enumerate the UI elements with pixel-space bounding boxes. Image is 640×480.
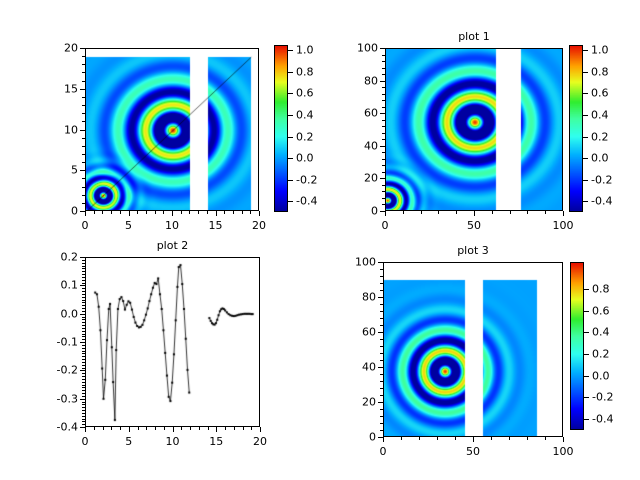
axis-tick: [382, 94, 385, 95]
axis-tick: [82, 64, 85, 65]
axis-tick: [583, 72, 588, 73]
plot-3-colorbar-gradient: [571, 263, 583, 429]
axis-tick: [146, 427, 147, 430]
axis-tick: [137, 211, 138, 214]
colorbar-tick-label: -0.2: [592, 391, 613, 404]
plot-0-ytick-label: 5: [38, 164, 78, 177]
colorbar-tick-label: 0.6: [592, 304, 610, 317]
axis-tick: [82, 410, 85, 411]
plot-0-ytick-label: 20: [38, 42, 78, 55]
axis-tick: [260, 427, 261, 432]
colorbar-tick-label: 0.0: [592, 369, 610, 382]
axis-tick: [103, 427, 104, 430]
axis-tick: [82, 162, 85, 163]
axis-tick: [82, 187, 85, 188]
plot-1-ytick-label: 100: [338, 42, 378, 55]
axis-tick: [382, 165, 385, 166]
axis-tick: [380, 381, 383, 382]
axis-tick: [380, 395, 383, 396]
plot-3-xtick-label: 0: [380, 445, 387, 458]
axis-tick: [382, 191, 385, 192]
axis-tick: [82, 319, 85, 320]
axis-tick: [80, 48, 85, 49]
axis-tick: [382, 120, 385, 121]
axis-tick: [82, 387, 85, 388]
axis-tick: [80, 314, 85, 315]
axis-tick: [380, 290, 383, 291]
axis-tick: [82, 288, 85, 289]
plot-0-ytick-label: 10: [38, 123, 78, 136]
axis-tick: [82, 294, 85, 295]
axis-tick: [155, 211, 156, 214]
axis-tick: [82, 396, 85, 397]
axis-tick: [584, 419, 589, 420]
axis-tick: [82, 268, 85, 269]
axis-tick: [250, 211, 251, 214]
plot-0-axes[interactable]: [85, 48, 259, 211]
axis-tick: [584, 332, 589, 333]
colorbar-tick-label: -0.2: [591, 173, 612, 186]
axis-tick: [80, 130, 85, 131]
axis-tick: [82, 121, 85, 122]
plot-1-title: plot 1: [385, 30, 563, 43]
axis-tick: [111, 211, 112, 214]
colorbar-tick-label: 0.2: [296, 130, 314, 143]
axis-tick: [382, 74, 385, 75]
plot-3-xtick-label: 50: [466, 445, 480, 458]
axis-tick: [380, 339, 383, 340]
axis-tick: [82, 283, 85, 284]
axis-tick: [491, 437, 492, 440]
axis-tick: [129, 427, 130, 432]
axis-tick: [455, 437, 456, 440]
axis-tick: [82, 291, 85, 292]
plot-2-xtick-label: 15: [209, 435, 223, 448]
plot-2-line-series: [86, 258, 260, 427]
colorbar-tick-label: -0.4: [296, 195, 317, 208]
plot-1-xtick-label: 100: [553, 219, 574, 232]
axis-tick: [288, 180, 293, 181]
axis-tick: [173, 427, 174, 432]
axis-tick: [82, 308, 85, 309]
axis-tick: [251, 427, 252, 430]
axis-tick: [138, 427, 139, 430]
axis-tick: [380, 374, 383, 375]
axis-tick: [563, 437, 564, 442]
axis-tick: [380, 211, 385, 212]
colorbar-tick-label: 0.8: [592, 283, 610, 296]
colorbar-tick-label: -0.4: [591, 195, 612, 208]
plot-2-xtick-label: 0: [82, 435, 89, 448]
plot-3-colorbar: [570, 262, 584, 430]
axis-tick: [403, 211, 404, 214]
axis-tick: [82, 331, 85, 332]
plot-0-xtick-label: 20: [252, 219, 266, 232]
axis-tick: [82, 365, 85, 366]
axis-tick: [82, 203, 85, 204]
axis-tick: [378, 297, 383, 298]
axis-tick: [382, 100, 385, 101]
axis-tick: [94, 211, 95, 214]
colorbar-tick-label: 0.4: [592, 326, 610, 339]
plot-3-axes[interactable]: [383, 262, 563, 437]
plot-3-xtick-label: 100: [553, 445, 574, 458]
axis-tick: [456, 211, 457, 214]
axis-tick: [382, 87, 385, 88]
axis-tick: [82, 348, 85, 349]
axis-tick: [82, 351, 85, 352]
axis-tick: [380, 360, 383, 361]
axis-tick: [164, 427, 165, 430]
axis-tick: [421, 211, 422, 214]
axis-tick: [82, 404, 85, 405]
axis-tick: [82, 390, 85, 391]
axis-tick: [82, 356, 85, 357]
axis-tick: [80, 370, 85, 371]
axis-tick: [82, 266, 85, 267]
plot-3-title: plot 3: [383, 244, 563, 257]
axis-tick: [380, 388, 383, 389]
axis-tick: [129, 211, 130, 216]
axis-tick: [82, 339, 85, 340]
axis-tick: [382, 139, 385, 140]
axis-tick: [82, 345, 85, 346]
axis-tick: [80, 257, 85, 258]
axis-tick: [120, 427, 121, 430]
axis-tick: [82, 138, 85, 139]
axis-tick: [380, 276, 383, 277]
axis-tick: [583, 201, 588, 202]
plot-1-ytick-label: 40: [338, 139, 378, 152]
axis-tick: [82, 271, 85, 272]
axis-tick: [82, 373, 85, 374]
axis-tick: [163, 211, 164, 214]
axis-tick: [82, 274, 85, 275]
plot-0-xtick-label: 10: [165, 219, 179, 232]
colorbar-tick-label: 0.8: [591, 65, 609, 78]
axis-tick: [378, 262, 383, 263]
axis-tick: [82, 368, 85, 369]
colorbar-tick-label: -0.4: [592, 413, 613, 426]
plot-1-xtick-label: 50: [467, 219, 481, 232]
axis-tick: [382, 126, 385, 127]
plot-2-ytick-label: -0.4: [38, 421, 78, 434]
axis-tick: [380, 318, 383, 319]
axis-tick: [474, 211, 475, 216]
axis-tick: [380, 269, 383, 270]
axis-tick: [510, 211, 511, 214]
axis-tick: [82, 56, 85, 57]
plot-2-title: plot 2: [85, 239, 260, 252]
axis-tick: [190, 427, 191, 430]
axis-tick: [224, 211, 225, 214]
axis-tick: [82, 334, 85, 335]
axis-tick: [82, 424, 85, 425]
axis-tick: [380, 409, 383, 410]
axis-tick: [563, 211, 564, 216]
axis-tick: [437, 437, 438, 440]
axis-tick: [438, 211, 439, 214]
plot-0-colorbar-gradient: [275, 46, 287, 211]
axis-tick: [82, 322, 85, 323]
axis-tick: [199, 427, 200, 430]
axis-tick: [80, 89, 85, 90]
axis-tick: [378, 402, 383, 403]
axis-tick: [111, 427, 112, 430]
axis-tick: [242, 211, 243, 214]
plot-1-heatmap: [386, 49, 563, 211]
axis-tick: [382, 61, 385, 62]
axis-tick: [82, 260, 85, 261]
plot-1-xtick-label: 0: [382, 219, 389, 232]
axis-tick: [545, 211, 546, 214]
axis-tick: [82, 297, 85, 298]
axis-tick: [380, 423, 383, 424]
plot-3-ytick-label: 40: [336, 361, 376, 374]
plot-2-xtick-label: 20: [253, 435, 267, 448]
colorbar-tick-label: 1.0: [591, 44, 609, 57]
axis-tick: [492, 211, 493, 214]
axis-tick: [94, 427, 95, 430]
axis-tick: [82, 379, 85, 380]
axis-tick: [288, 137, 293, 138]
plot-2-ytick-label: 0.2: [38, 251, 78, 264]
axis-tick: [584, 397, 589, 398]
axis-tick: [80, 342, 85, 343]
axis-tick: [82, 113, 85, 114]
axis-tick: [82, 419, 85, 420]
axis-tick: [243, 427, 244, 430]
axis-tick: [80, 170, 85, 171]
axis-tick: [583, 158, 588, 159]
axis-tick: [82, 97, 85, 98]
axis-tick: [82, 302, 85, 303]
axis-tick: [380, 325, 383, 326]
plot-3-ytick-label: 0: [336, 431, 376, 444]
axis-tick: [85, 211, 86, 216]
axis-tick: [509, 437, 510, 440]
colorbar-tick-label: 0.2: [592, 348, 610, 361]
axis-tick: [82, 402, 85, 403]
plot-1-axes[interactable]: [385, 48, 563, 211]
plot-0-xtick-label: 5: [125, 219, 132, 232]
axis-tick: [380, 346, 383, 347]
axis-tick: [380, 353, 383, 354]
axis-tick: [82, 416, 85, 417]
plot-2-ytick-label: 0.1: [38, 279, 78, 292]
axis-tick: [82, 317, 85, 318]
axis-tick: [583, 93, 588, 94]
axis-tick: [584, 354, 589, 355]
axis-tick: [288, 93, 293, 94]
colorbar-tick-label: 0.0: [296, 152, 314, 165]
plot-2-ytick-label: -0.3: [38, 392, 78, 405]
colorbar-tick-label: 0.8: [296, 65, 314, 78]
axis-tick: [82, 72, 85, 73]
axis-tick: [85, 427, 86, 432]
axis-tick: [419, 437, 420, 440]
axis-tick: [233, 211, 234, 214]
axis-tick: [82, 336, 85, 337]
axis-tick: [82, 362, 85, 363]
axis-tick: [82, 263, 85, 264]
axis-tick: [80, 427, 85, 428]
plot-2-ytick-label: -0.1: [38, 336, 78, 349]
axis-tick: [259, 211, 260, 216]
plot-1-ytick-label: 20: [338, 172, 378, 185]
colorbar-tick-label: 0.6: [296, 87, 314, 100]
plot-0-ytick-label: 0: [38, 205, 78, 218]
plot-1-ytick-label: 80: [338, 74, 378, 87]
axis-tick: [189, 211, 190, 214]
axis-tick: [288, 50, 293, 51]
axis-tick: [584, 289, 589, 290]
axis-tick: [383, 437, 384, 442]
axis-tick: [82, 385, 85, 386]
plot-0-xtick-label: 15: [209, 219, 223, 232]
axis-tick: [82, 305, 85, 306]
axis-tick: [583, 115, 588, 116]
plot-2-axes[interactable]: [85, 257, 260, 427]
plot-0-colorbar: [274, 45, 288, 212]
axis-tick: [82, 421, 85, 422]
plot-3-ytick-label: 80: [336, 291, 376, 304]
axis-tick: [82, 376, 85, 377]
axis-tick: [82, 325, 85, 326]
axis-tick: [380, 311, 383, 312]
axis-tick: [382, 172, 385, 173]
axis-tick: [288, 201, 293, 202]
axis-tick: [82, 328, 85, 329]
axis-tick: [82, 105, 85, 106]
axis-tick: [155, 427, 156, 430]
axis-tick: [380, 81, 385, 82]
colorbar-tick-label: 0.6: [591, 87, 609, 100]
axis-tick: [583, 180, 588, 181]
axis-tick: [82, 353, 85, 354]
axis-tick: [82, 413, 85, 414]
axis-tick: [82, 407, 85, 408]
plot-0-xtick-label: 0: [82, 219, 89, 232]
plot-1-colorbar-gradient: [570, 46, 582, 211]
axis-tick: [80, 211, 85, 212]
axis-tick: [288, 72, 293, 73]
axis-tick: [380, 113, 385, 114]
axis-tick: [583, 50, 588, 51]
axis-tick: [216, 427, 217, 432]
axis-tick: [382, 159, 385, 160]
axis-tick: [527, 211, 528, 214]
axis-tick: [82, 178, 85, 179]
axis-tick: [82, 146, 85, 147]
axis-tick: [198, 211, 199, 214]
axis-tick: [82, 154, 85, 155]
axis-tick: [385, 211, 386, 216]
axis-tick: [378, 437, 383, 438]
axis-tick: [80, 285, 85, 286]
axis-tick: [382, 68, 385, 69]
plot-0-ytick-label: 15: [38, 82, 78, 95]
plot-0-heatmap: [86, 49, 259, 211]
axis-tick: [288, 115, 293, 116]
axis-tick: [545, 437, 546, 440]
plot-2-xtick-label: 5: [125, 435, 132, 448]
axis-tick: [208, 427, 209, 430]
plot-3-ytick-label: 60: [336, 326, 376, 339]
colorbar-tick-label: 0.2: [591, 130, 609, 143]
axis-tick: [380, 48, 385, 49]
plot-3-ytick-label: 20: [336, 396, 376, 409]
axis-tick: [234, 427, 235, 430]
axis-tick: [382, 198, 385, 199]
axis-tick: [181, 211, 182, 214]
axis-tick: [82, 81, 85, 82]
axis-tick: [584, 311, 589, 312]
plot-2-xtick-label: 10: [166, 435, 180, 448]
axis-tick: [225, 427, 226, 430]
axis-tick: [207, 211, 208, 214]
axis-tick: [378, 332, 383, 333]
axis-tick: [172, 211, 173, 216]
axis-tick: [382, 55, 385, 56]
axis-tick: [527, 437, 528, 440]
plot-2-ytick-label: -0.2: [38, 364, 78, 377]
colorbar-tick-label: 0.4: [296, 109, 314, 122]
colorbar-tick-label: -0.2: [296, 173, 317, 186]
axis-tick: [82, 277, 85, 278]
axis-tick: [181, 427, 182, 430]
axis-tick: [380, 430, 383, 431]
colorbar-tick-label: 1.0: [296, 44, 314, 57]
axis-tick: [216, 211, 217, 216]
figure-canvas: 05101520051015201.00.80.60.40.20.0-0.2-0…: [0, 0, 640, 480]
plot-1-ytick-label: 60: [338, 107, 378, 120]
axis-tick: [382, 133, 385, 134]
axis-tick: [82, 359, 85, 360]
axis-tick: [583, 137, 588, 138]
plot-2-ytick-label: 0.0: [38, 307, 78, 320]
axis-tick: [102, 211, 103, 214]
axis-tick: [382, 185, 385, 186]
colorbar-tick-label: 0.0: [591, 152, 609, 165]
axis-tick: [82, 393, 85, 394]
axis-tick: [380, 283, 383, 284]
axis-tick: [288, 158, 293, 159]
axis-tick: [382, 152, 385, 153]
axis-tick: [82, 311, 85, 312]
axis-tick: [380, 304, 383, 305]
axis-tick: [82, 280, 85, 281]
plot-1-colorbar: [569, 45, 583, 212]
plot-3-ytick-label: 100: [336, 256, 376, 269]
colorbar-tick-label: 0.4: [591, 109, 609, 122]
axis-tick: [401, 437, 402, 440]
plot-1-ytick-label: 0: [338, 205, 378, 218]
axis-tick: [382, 107, 385, 108]
axis-tick: [380, 178, 385, 179]
axis-tick: [82, 195, 85, 196]
axis-tick: [120, 211, 121, 214]
axis-tick: [380, 416, 383, 417]
axis-tick: [380, 146, 385, 147]
axis-tick: [382, 204, 385, 205]
axis-tick: [82, 382, 85, 383]
plot-3-heatmap: [384, 263, 563, 437]
axis-tick: [473, 437, 474, 442]
axis-tick: [146, 211, 147, 214]
axis-tick: [82, 300, 85, 301]
axis-tick: [378, 367, 383, 368]
